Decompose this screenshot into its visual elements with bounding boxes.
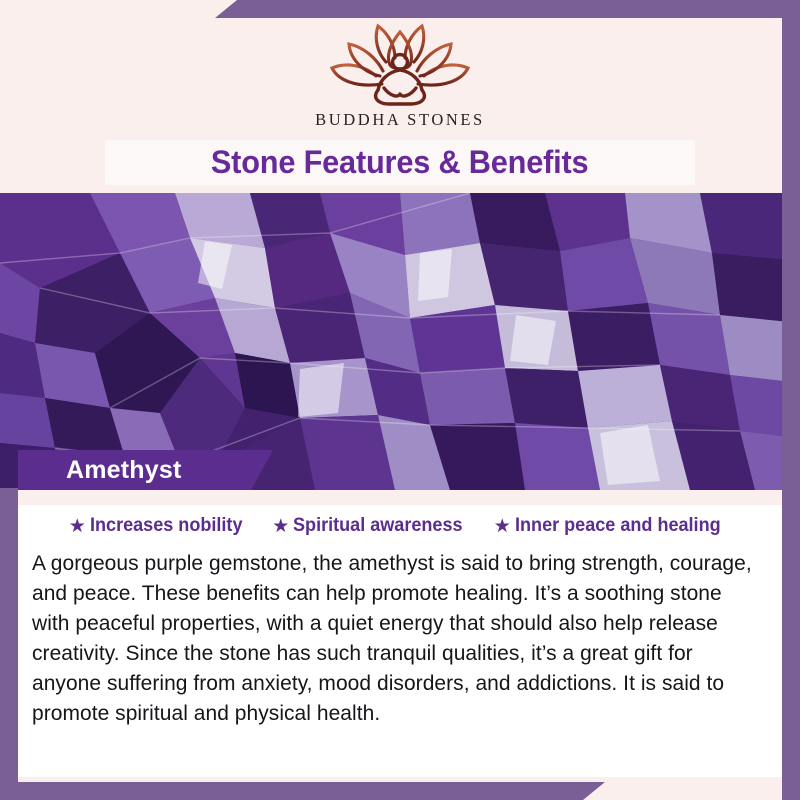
brand-name: BUDDHA STONES (315, 110, 485, 130)
section-title-band: Stone Features & Benefits (105, 140, 695, 185)
brand-logo: BUDDHA STONES (0, 18, 800, 130)
benefit-label-2: Spiritual awareness (293, 515, 463, 537)
benefits-list: ★ Increases nobility ★ Spiritual awarene… (18, 505, 782, 537)
frame-band-bottom (0, 782, 605, 800)
frame-band-left (0, 488, 18, 800)
frame-band-right (782, 0, 800, 800)
star-icon: ★ (494, 517, 511, 536)
benefit-item-2: ★ Spiritual awareness (272, 515, 472, 537)
benefit-item-1: ★ Increases nobility (69, 515, 251, 537)
page-title: Stone Features & Benefits (211, 144, 589, 181)
benefit-label-1: Increases nobility (90, 515, 242, 537)
product-info-card: BUDDHA STONES Stone Features & Benefits (0, 0, 800, 800)
lotus-meditation-figure-icon (320, 18, 480, 106)
stone-name-banner: Amethyst (18, 450, 273, 490)
benefit-item-3: ★ Inner peace and healing (494, 515, 732, 537)
star-icon: ★ (69, 517, 86, 536)
header: BUDDHA STONES Stone Features & Benefits (0, 0, 800, 193)
amethyst-crystal-cluster-photo (0, 193, 800, 490)
benefit-label-3: Inner peace and healing (515, 515, 721, 537)
content-card: ★ Increases nobility ★ Spiritual awarene… (18, 505, 782, 777)
stone-name: Amethyst (18, 456, 182, 485)
star-icon: ★ (272, 517, 289, 536)
stone-description: A gorgeous purple gemstone, the amethyst… (32, 548, 757, 728)
frame-band-top (215, 0, 800, 18)
